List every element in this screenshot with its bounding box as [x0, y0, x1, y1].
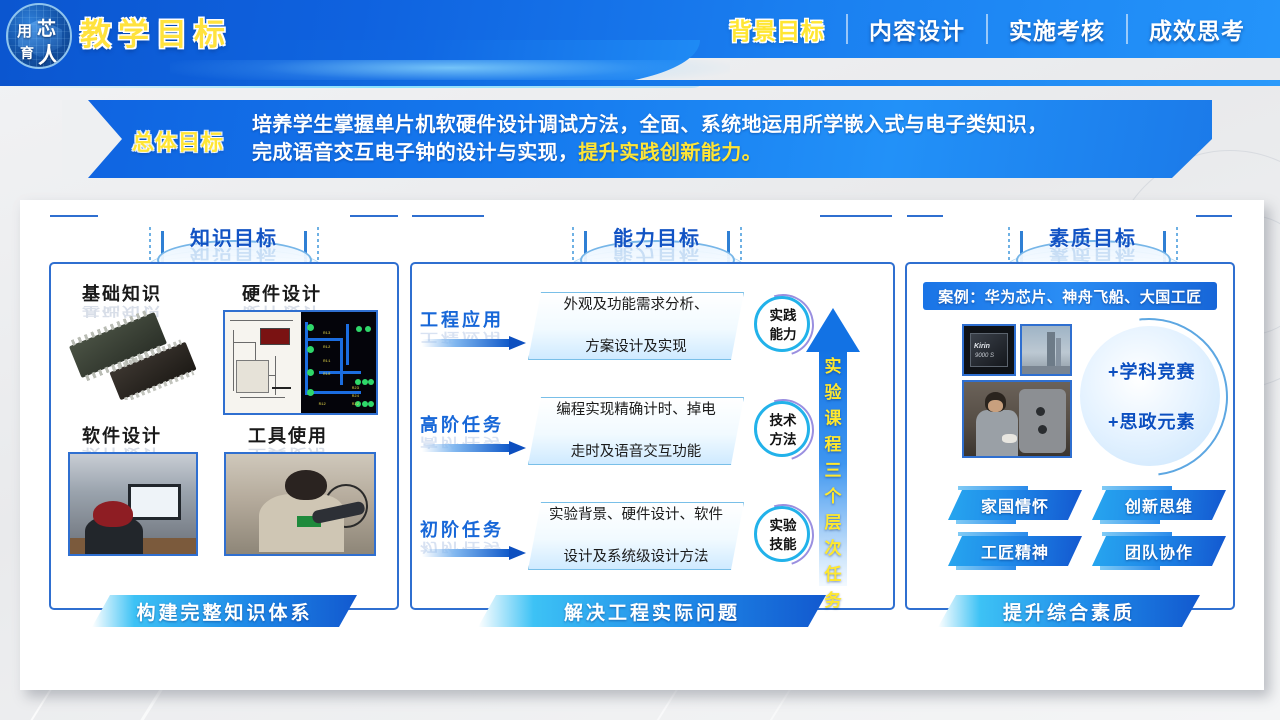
schematic-drawing	[225, 312, 301, 413]
nav-tab-outcome-reflection[interactable]: 成效思考	[1128, 12, 1266, 46]
seven-segment-display-icon	[260, 328, 290, 345]
craftsman-photo	[964, 382, 1070, 456]
objective-line-2-highlight: 提升实践创新能力。	[578, 142, 762, 164]
quality-tag-deco-2	[1102, 486, 1172, 490]
ability-stage-label-3: 初阶任务 初阶任务	[420, 516, 504, 542]
overall-objective-banner: 总体目标 培养学生掌握单片机软硬件设计调试方法，全面、系统地运用所学嵌入式与电子…	[62, 100, 1212, 178]
knowledge-item-1-image	[60, 308, 220, 400]
quality-tag-2: 创新思维	[1092, 490, 1226, 520]
knowledge-item-4-image	[224, 452, 376, 556]
quality-image-craftsman	[962, 380, 1072, 458]
ability-badge-2-line1: 技术	[770, 413, 797, 428]
schematic-ic-block	[236, 360, 269, 392]
launch-tower-photo	[1022, 326, 1070, 374]
ability-footer-banner: 解决工程实际问题	[478, 595, 826, 627]
knowledge-item-3-image	[68, 452, 198, 556]
nav-tab-content-design[interactable]: 内容设计	[848, 12, 986, 46]
ability-badge-2: 技术 方法	[752, 399, 814, 461]
ability-badge-1: 实践 能力	[752, 294, 814, 356]
ability-stage-label-1: 工程应用 工程应用	[420, 306, 504, 332]
quality-image-rocket	[1020, 324, 1072, 376]
knowledge-item-2-image: R13 R12 R11 R10 R23 R24 R22 R12	[223, 310, 378, 415]
overall-objective-label: 总体目标	[132, 125, 224, 157]
course-logo: 用 芯 育 人	[6, 3, 72, 69]
ability-description-3: 实验背景、硬件设计、软件 设计及系统级设计方法	[528, 502, 744, 570]
logo-char-2: 芯	[37, 14, 56, 41]
knowledge-footer-line-left	[50, 215, 98, 217]
ability-badge-3: 实验 技能	[752, 504, 814, 566]
ability-desc-2-line2: 走时及语音交互功能	[538, 442, 734, 463]
nav-tab-background-goals[interactable]: 背景目标	[708, 12, 846, 46]
page-title: 教学目标	[80, 9, 232, 54]
plus-item-2: +思政元素	[1108, 408, 1196, 434]
ability-arrow-icon-3	[422, 546, 526, 559]
quality-tag-deco-3	[956, 520, 1016, 524]
quality-image-chip: Kirin 9000 S	[962, 324, 1016, 376]
objective-line-2-plain: 完成语音交互电子钟的设计与实现，	[252, 142, 578, 164]
ability-badge-3-line2: 技能	[770, 537, 797, 552]
overall-objective-text: 培养学生掌握单片机软硬件设计调试方法，全面、系统地运用所学嵌入式与电子类知识， …	[252, 111, 1182, 167]
ability-badge-1-line2: 能力	[770, 327, 797, 342]
section-nav: 背景目标 内容设计 实施考核 成效思考	[708, 6, 1266, 52]
ability-badge-3-line1: 实验	[770, 518, 797, 533]
quality-tag-deco-4	[1100, 520, 1160, 524]
quality-tag-deco-6	[1102, 532, 1172, 536]
ability-badge-1-line1: 实践	[770, 308, 797, 323]
soldering-photo	[226, 454, 374, 554]
knowledge-item-3-label: 软件设计 软件设计	[82, 422, 162, 448]
quality-tag-deco-1	[958, 486, 1028, 490]
arrow-head-icon	[806, 308, 860, 352]
quality-tag-deco-5	[958, 532, 1028, 536]
ability-desc-1-line1: 外观及功能需求分析、	[538, 295, 734, 316]
three-level-task-label: 实验课程三个层次任务	[819, 354, 847, 614]
ability-arrow-icon-1	[422, 336, 526, 349]
logo-char-1: 用	[17, 20, 32, 41]
ability-footer-line-right	[820, 215, 892, 217]
chip-model-label: 9000 S	[975, 353, 994, 359]
ability-badge-2-line2: 方法	[770, 432, 797, 447]
knowledge-title-text: 知识目标	[129, 222, 339, 251]
ability-desc-1-line2: 方案设计及实现	[538, 337, 734, 358]
chip-brand-label: Kirin	[974, 343, 990, 350]
pcb-layout-image: R13 R12 R11 R10 R23 R24 R22 R12	[301, 312, 377, 413]
ability-footer-line-left	[412, 215, 484, 217]
ability-stage-label-2: 高阶任务 高阶任务	[420, 411, 504, 437]
quality-case-bar: 案例：华为芯片、神舟飞船、大国工匠	[923, 282, 1217, 310]
ability-desc-2-line1: 编程实现精确计时、掉电	[538, 400, 734, 421]
objective-line-2: 完成语音交互电子钟的设计与实现，提升实践创新能力。	[252, 139, 1182, 167]
quality-footer-line-left	[907, 215, 943, 217]
ability-title-text: 能力目标	[552, 222, 762, 251]
objective-line-1: 培养学生掌握单片机软硬件设计调试方法，全面、系统地运用所学嵌入式与电子类知识，	[252, 111, 1182, 139]
quality-tag-3: 工匠精神	[948, 536, 1082, 566]
quality-footer-banner: 提升综合素质	[938, 595, 1200, 627]
quality-tag-deco-8	[1100, 566, 1160, 570]
quality-tag-deco-7	[956, 566, 1016, 570]
ability-arrow-icon-2	[422, 441, 526, 454]
knowledge-footer-banner: 构建完整知识体系	[92, 595, 357, 627]
knowledge-item-2-label: 硬件设计 硬件设计	[242, 280, 322, 306]
knowledge-footer-line-right	[350, 215, 398, 217]
three-level-task-arrow: 实验课程三个层次任务	[806, 308, 860, 586]
logo-char-3: 育	[20, 43, 34, 63]
quality-footer-line-right	[1196, 215, 1232, 217]
ability-description-2: 编程实现精确计时、掉电 走时及语音交互功能	[528, 397, 744, 465]
kirin-chip-photo: Kirin 9000 S	[964, 326, 1014, 374]
quality-tag-4: 团队协作	[1092, 536, 1226, 566]
ability-description-1: 外观及功能需求分析、 方案设计及实现	[528, 292, 744, 360]
computer-lab-photo	[70, 454, 196, 554]
main-content-panel: 知识目标 知识目标 基础知识 基础知识 硬件设计 硬件设计	[20, 200, 1264, 690]
header-bottom-strip	[0, 80, 1280, 86]
ability-desc-3-line1: 实验背景、硬件设计、软件	[538, 505, 734, 526]
knowledge-item-4-label: 工具使用 工具使用	[248, 422, 328, 448]
nav-tab-implementation[interactable]: 实施考核	[988, 12, 1126, 46]
logo-char-4: 人	[38, 38, 60, 69]
plus-item-1: +学科竞赛	[1108, 358, 1196, 384]
slide-header: 用 芯 育 人 教学目标 背景目标 内容设计 实施考核 成效思考	[0, 0, 1280, 86]
ability-desc-3-line2: 设计及系统级设计方法	[538, 547, 734, 568]
quality-title-text: 素质目标	[988, 222, 1198, 251]
knowledge-item-1-label: 基础知识 基础知识	[82, 280, 162, 306]
quality-tag-1: 家国情怀	[948, 490, 1082, 520]
